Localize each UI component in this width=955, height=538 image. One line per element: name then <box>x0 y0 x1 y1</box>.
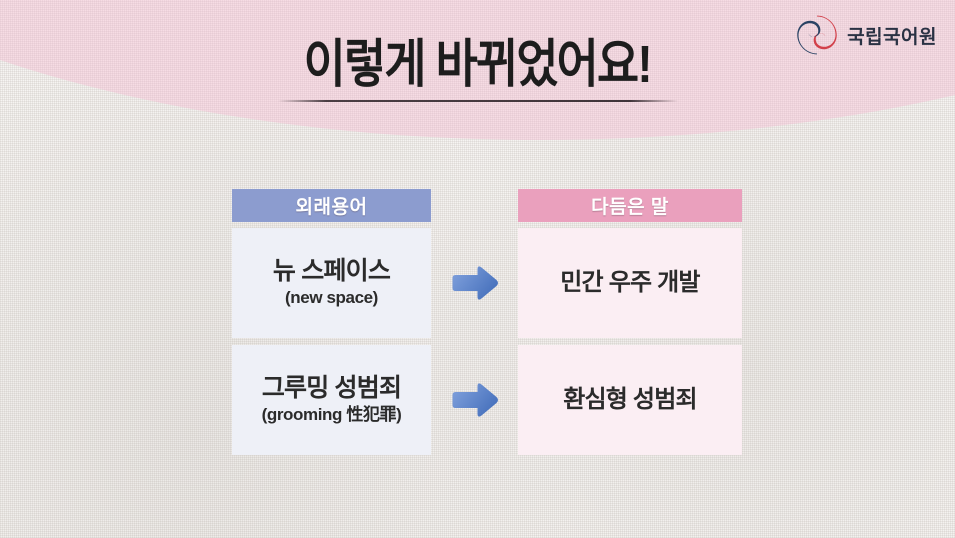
table-row: 뉴 스페이스 (new space) <box>232 228 742 338</box>
source-term-romanization: (grooming 性犯罪) <box>262 405 402 425</box>
table-header-row: 외래용어 다듬은 말 <box>232 189 742 222</box>
source-term-cell: 뉴 스페이스 (new space) <box>232 228 431 338</box>
refined-term-cell: 민간 우주 개발 <box>518 228 742 338</box>
page-title: 이렇게 바뀌었어요! <box>304 38 651 93</box>
source-term-cell: 그루밍 성범죄 (grooming 性犯罪) <box>232 345 431 455</box>
right-arrow-icon <box>450 263 500 303</box>
arrow-cell <box>431 228 518 338</box>
refined-term-text: 민간 우주 개발 <box>560 269 699 297</box>
source-term-text: 뉴 스페이스 <box>273 257 390 286</box>
comparison-table: 외래용어 다듬은 말 뉴 스페이스 (new space) <box>232 189 742 455</box>
refined-term-text: 환심형 성범죄 <box>563 386 697 414</box>
refined-term-cell: 환심형 성범죄 <box>518 345 742 455</box>
slide-canvas: 국립국어원 이렇게 바뀌었어요! 외래용어 다듬은 말 뉴 스페이스 (new … <box>0 0 955 538</box>
title-underline-rule <box>278 100 678 102</box>
source-term-romanization: (new space) <box>285 288 378 308</box>
table-row: 그루밍 성범죄 (grooming 性犯罪) 환심형 성범죄 <box>232 345 742 455</box>
source-term-text: 그루밍 성범죄 <box>262 374 401 403</box>
page-title-wrapper: 이렇게 바뀌었어요! <box>0 38 955 93</box>
column-header-foreign-term: 외래용어 <box>232 189 431 222</box>
slide-content-layer: 국립국어원 이렇게 바뀌었어요! 외래용어 다듬은 말 뉴 스페이스 (new … <box>0 0 955 538</box>
arrow-cell <box>431 345 518 455</box>
column-header-refined-word: 다듬은 말 <box>518 189 742 222</box>
right-arrow-icon <box>450 380 500 420</box>
